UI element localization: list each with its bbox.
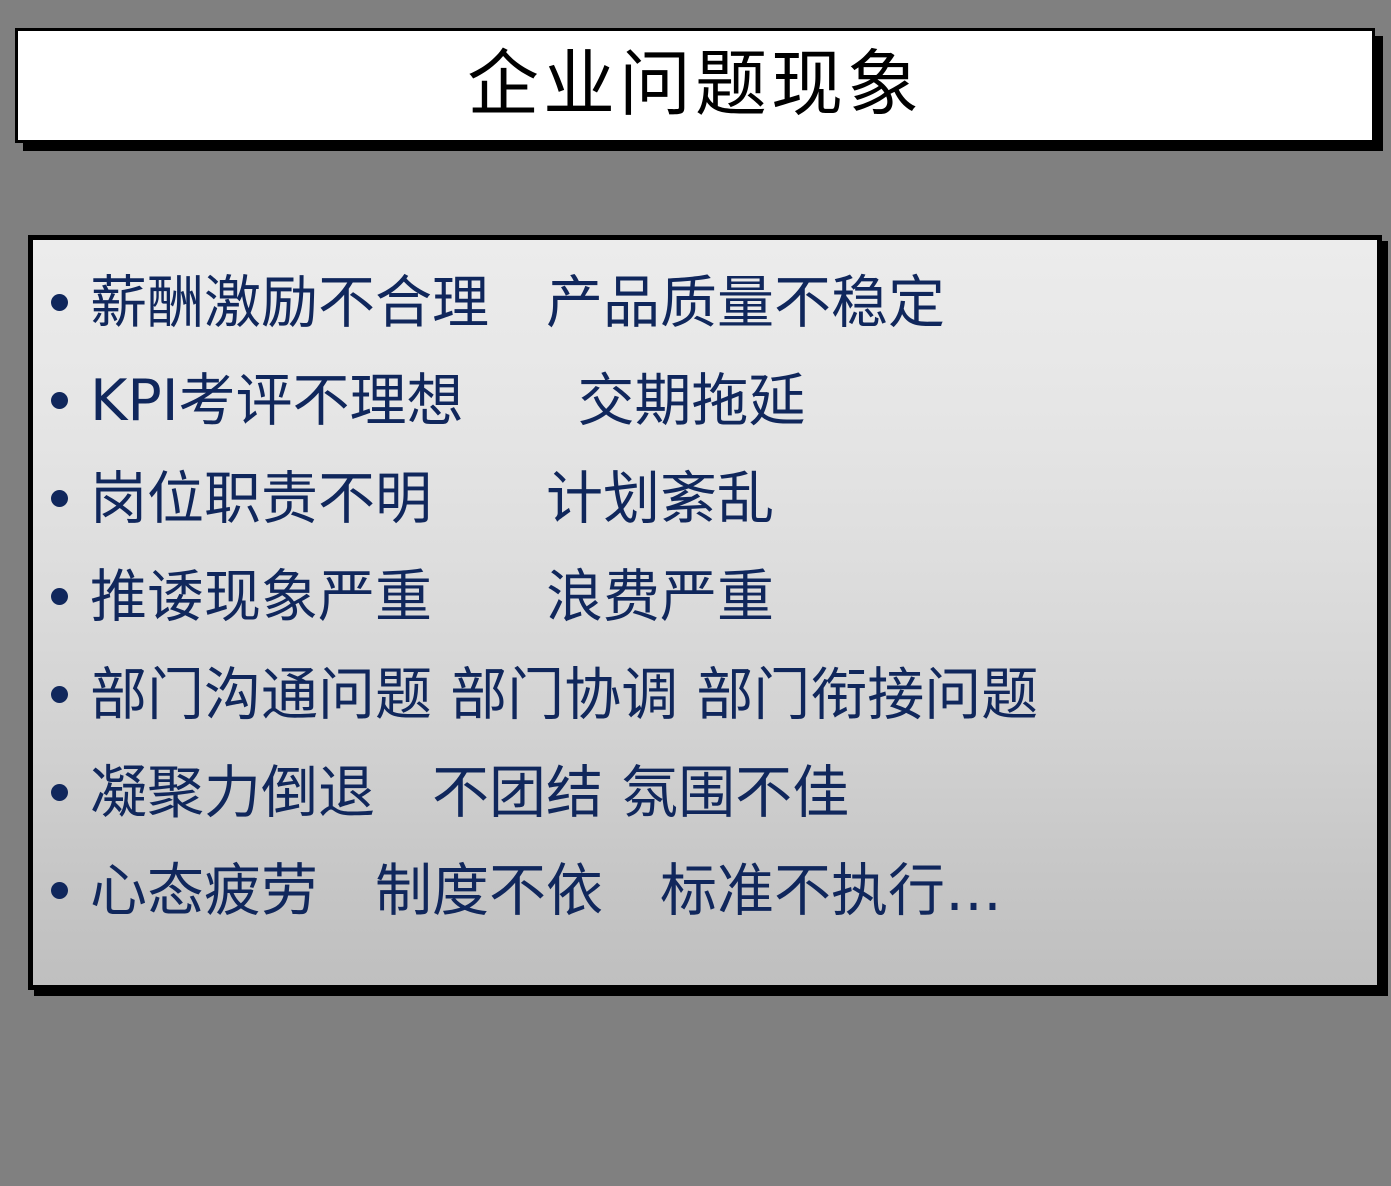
title-plate: 企业问题现象	[15, 28, 1375, 143]
bullet-dot-icon	[51, 686, 68, 703]
list-item-label: 凝聚力倒退 不团结 氛围不佳	[90, 744, 849, 842]
list-item-label: KPI考评不理想 交期拖延	[90, 352, 806, 450]
bullet-dot-icon	[51, 882, 68, 899]
bullet-dot-icon	[51, 490, 68, 507]
list-item: 推诿现象严重 浪费严重	[33, 548, 1377, 646]
list-item-label: 心态疲劳 制度不依 标准不执行…	[90, 842, 1002, 940]
list-item: KPI考评不理想 交期拖延	[33, 352, 1377, 450]
bullet-dot-icon	[51, 294, 68, 311]
list-item-label: 部门沟通问题 部门协调 部门衔接问题	[90, 646, 1038, 744]
list-item-label: 岗位职责不明 计划紊乱	[90, 450, 774, 548]
slide-canvas: 企业问题现象 薪酬激励不合理 产品质量不稳定 KPI考评不理想 交期拖延 岗位职…	[0, 0, 1391, 1186]
bullet-list: 薪酬激励不合理 产品质量不稳定 KPI考评不理想 交期拖延 岗位职责不明 计划紊…	[33, 240, 1377, 940]
list-item: 心态疲劳 制度不依 标准不执行…	[33, 842, 1377, 940]
list-item-label: 推诿现象严重 浪费严重	[90, 548, 774, 646]
bullet-dot-icon	[51, 588, 68, 605]
list-item: 薪酬激励不合理 产品质量不稳定	[33, 254, 1377, 352]
list-item: 岗位职责不明 计划紊乱	[33, 450, 1377, 548]
page-title: 企业问题现象	[467, 48, 923, 120]
bullet-dot-icon	[51, 392, 68, 409]
content-plate: 薪酬激励不合理 产品质量不稳定 KPI考评不理想 交期拖延 岗位职责不明 计划紊…	[28, 235, 1382, 990]
list-item-label: 薪酬激励不合理 产品质量不稳定	[90, 254, 945, 352]
bullet-dot-icon	[51, 784, 68, 801]
list-item: 凝聚力倒退 不团结 氛围不佳	[33, 744, 1377, 842]
list-item: 部门沟通问题 部门协调 部门衔接问题	[33, 646, 1377, 744]
